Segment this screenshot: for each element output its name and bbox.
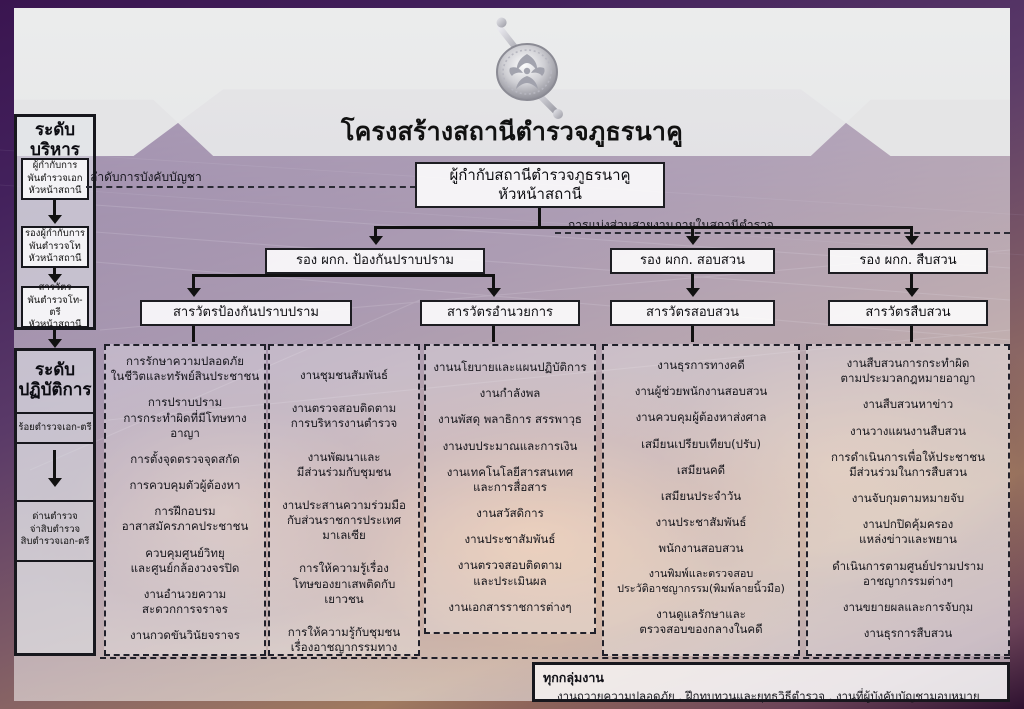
list-item: งานจับกุมตามหมายจับ	[812, 491, 1004, 506]
list-item: เสมียนคดี	[608, 463, 794, 478]
list-item: งานเทคโนโลยีสารสนเทศ และการสื่อสาร	[430, 465, 590, 495]
deputy-box-investigation: รอง ผกก. สอบสวน	[610, 248, 775, 274]
rail-executive-cell-3: สารวัตร พันตำรวจโท-ตรี หัวหน้าสถานี	[21, 286, 89, 328]
chief-down-connector	[538, 208, 541, 226]
list-item: การตั้งจุดตรวจจุดสกัด	[110, 452, 260, 467]
list-item: งานสืบสวนการกระทำผิด ตามประมวลกฎหมายอาญา	[812, 356, 1004, 386]
list-item: งานพัฒนาและ มีส่วนร่วมกับชุมชน	[274, 450, 414, 480]
deputy-bus	[374, 226, 912, 229]
list-item: งานเอกสารราชการต่างๆ	[430, 600, 590, 615]
list-item: งานอำนวยความ สะดวกการจราจร	[110, 587, 260, 617]
chain-of-command-label: ลำดับการบังคับบัญชา	[90, 168, 202, 187]
list-item: การให้ความรู้กับชุมชน เรื่องอาชญากรรมทาง…	[274, 625, 414, 656]
prevention-split-bus	[192, 274, 492, 277]
rail-operational-heading: ระดับ ปฏิบัติการ	[14, 360, 96, 401]
footer-rule	[100, 657, 1010, 659]
list-item: งานสวัสดิการ	[430, 506, 590, 521]
rail-operational-cell-2: ด่านตำรวจ จ่าสิบตำรวจ สิบตำรวจเอก-ตรี	[16, 502, 94, 558]
list-item: งานธุรการจราจร	[110, 654, 260, 656]
list-item: งานกำลังพล	[430, 386, 590, 401]
column-connector-4	[910, 326, 913, 342]
rail-operational-divider-2	[14, 442, 96, 444]
list-item: งานตรวจสอบติดตาม การบริหารงานตำรวจ	[274, 401, 414, 431]
deputy-arrow-1	[369, 236, 383, 245]
list-item: การรักษาความปลอดภัย ในชีวิตและทรัพย์สินป…	[110, 354, 260, 384]
rail-executive-cell-1: ผู้กำกับการ พันตำรวจเอก หัวหน้าสถานี	[21, 158, 89, 200]
footer-text: งานถวายความปลอดภัย , ฝึกทบทวนและยุทธวิธี…	[543, 688, 999, 706]
list-item: งานสืบสวนหาข่าว	[812, 397, 1004, 412]
rail-operational-cell-1: ร้อยตำรวจเอก-ตรี	[16, 414, 94, 442]
list-item: งานธุรการทางคดี	[608, 358, 794, 373]
inspector-box-inquiry: สารวัตรสืบสวน	[828, 300, 988, 326]
inspector-box-administration: สารวัตรอำนวยการ	[420, 300, 580, 326]
list-item: งานพิมพ์และตรวจสอบ ประวัติอาชญากรรม(พิมพ…	[608, 567, 794, 596]
station-chief-line1: ผู้กำกับสถานีตำรวจภูธรนาคู	[449, 166, 630, 185]
list-item: การฝึกอบรม อาสาสมัครภาคประชาชน	[110, 504, 260, 534]
footer-title: ทุกกลุ่มงาน	[543, 668, 999, 688]
list-item: การให้ความรู้เรื่อง โทษของยาเสพติดกับเยา…	[274, 561, 414, 607]
deputy-arrow-3	[905, 236, 919, 245]
rail-executive-heading: ระดับ บริหาร	[14, 120, 96, 161]
list-item: ดำเนินการตามศูนย์ปรามปราม อาชญากรรมต่างๆ	[812, 559, 1004, 589]
list-item: พนักงานสอบสวน	[608, 541, 794, 556]
list-item: เสมียนเปรียบเทียบ(ปรับ)	[608, 437, 794, 452]
org-chart-page: โครงสร้างสถานีตำรวจภูธรนาคู ระดับ บริหาร…	[0, 0, 1024, 709]
list-item: การดำเนินการเพื่อให้ประชาชน มีส่วนร่วมใน…	[812, 450, 1004, 480]
rail-executive-arrow-1	[48, 215, 62, 224]
column-connector-2	[492, 326, 495, 342]
inspector-box-prevention: สารวัตรป้องกันปราบปราม	[140, 300, 352, 326]
list-item: งานธุรการสืบสวน	[812, 626, 1004, 641]
column-community-relations: งานชุมชนสัมพันธ์ งานตรวจสอบติดตาม การบริ…	[268, 344, 420, 656]
rail-operational-divider-4	[14, 560, 96, 562]
column-connector-3	[691, 326, 694, 342]
list-item: งานผู้ช่วยพนักงานสอบสวน	[608, 384, 794, 399]
list-item: งานพัสดุ พลาธิการ สรรพาวุธ	[430, 412, 590, 427]
station-chief-line2: หัวหน้าสถานี	[498, 185, 582, 204]
police-emblem-icon	[482, 14, 570, 124]
rail-operational-arrow-1	[48, 478, 62, 487]
deputy-box-inquiry: รอง ผกก. สืบสวน	[828, 248, 988, 274]
rail-executive-heading-line1: ระดับ	[14, 120, 96, 140]
inspector-arrow-1	[187, 288, 201, 297]
column-administration: งานนโยบายและแผนปฏิบัติการ งานกำลังพล งาน…	[424, 344, 596, 634]
list-item: งานประชาสัมพันธ์	[608, 515, 794, 530]
column-prevention-suppression: การรักษาความปลอดภัย ในชีวิตและทรัพย์สินป…	[104, 344, 266, 656]
list-item: งานตรวจสอบติดตาม และประเมินผล	[430, 558, 590, 588]
rail-operational-heading-line1: ระดับ	[14, 360, 96, 380]
inspector-arrow-2	[487, 288, 501, 297]
list-item: งานชุมชนสัมพันธ์	[274, 368, 414, 383]
rail-bridge-arrow	[48, 339, 62, 348]
list-item: งานควบคุมผู้ต้องหาส่งศาล	[608, 410, 794, 425]
column-inquiry: งานสืบสวนการกระทำผิด ตามประมวลกฎหมายอาญา…	[806, 344, 1010, 656]
deputy-arrow-2	[686, 236, 700, 245]
inspector-box-investigation: สารวัตรสอบสวน	[610, 300, 775, 326]
inspector-arrow-3	[686, 288, 700, 297]
list-item: งานงบประมาณและการเงิน	[430, 439, 590, 454]
list-item: งานประชาสัมพันธ์	[430, 532, 590, 547]
list-item: การปราบปราม การกระทำผิดที่มีโทษทางอาญา	[110, 395, 260, 441]
list-item: เสมียนประจำวัน	[608, 489, 794, 504]
rail-executive-cell-2: รองผู้กำกับการ พันตำรวจโท หัวหน้าสถานี	[21, 226, 89, 268]
list-item: งานวางแผนงานสืบสวน	[812, 424, 1004, 439]
list-item: ควบคุมศูนย์วิทยุ และศูนย์กล้องวงจรปิด	[110, 546, 260, 576]
page-title: โครงสร้างสถานีตำรวจภูธรนาคู	[0, 112, 1024, 152]
list-item: งานประสานความร่วมมือ กับส่วนราชการประเทศ…	[274, 498, 414, 544]
station-chief-box: ผู้กำกับสถานีตำรวจภูธรนาคู หัวหน้าสถานี	[415, 162, 665, 208]
column-connector-1	[192, 326, 195, 342]
inspector-arrow-4	[905, 288, 919, 297]
column-investigation: งานธุรการทางคดี งานผู้ช่วยพนักงานสอบสวน …	[602, 344, 800, 656]
list-item: งานกวดขันวินัยจราจร	[110, 628, 260, 643]
list-item: การควบคุมตัวผู้ต้องหา	[110, 478, 260, 493]
all-groups-footer: ทุกกลุ่มงาน งานถวายความปลอดภัย , ฝึกทบทว…	[532, 662, 1010, 702]
list-item: งานดูแลรักษาและ ตรวจสอบของกลางในคดี	[608, 607, 794, 637]
list-item: งานนโยบายและแผนปฏิบัติการ	[430, 360, 590, 375]
deputy-box-prevention: รอง ผกก. ป้องกันปราบปราม	[265, 248, 485, 274]
list-item: งานขยายผลและการจับกุม	[812, 600, 1004, 615]
rail-operational-heading-line2: ปฏิบัติการ	[14, 380, 96, 400]
list-item: งานปกปิดคุ้มครอง แหล่งข่าวและพยาน	[812, 517, 1004, 547]
prevention-stem	[375, 274, 378, 276]
